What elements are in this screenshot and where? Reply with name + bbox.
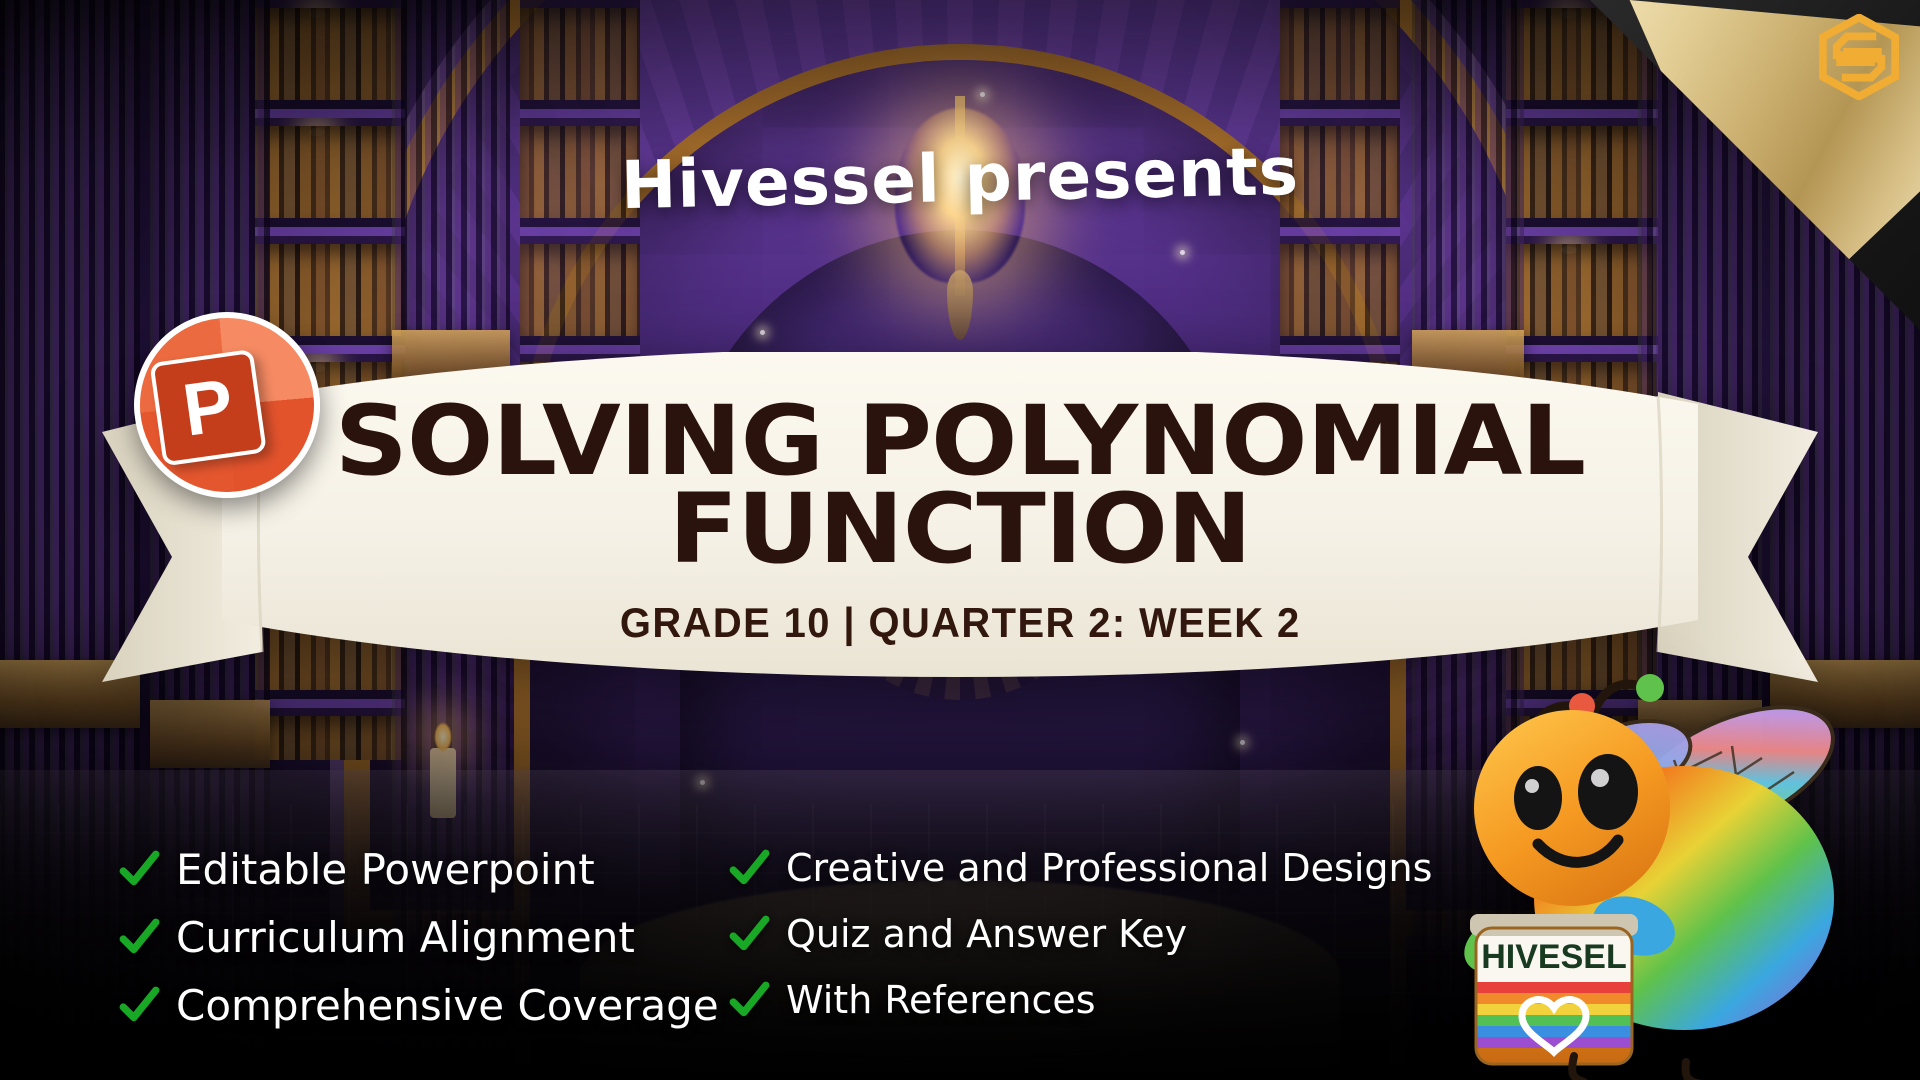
shelf-row <box>520 236 640 354</box>
list-item: Curriculum Alignment <box>118 916 678 960</box>
bee-eye-left <box>1514 766 1562 830</box>
powerpoint-tile: P <box>149 349 266 466</box>
rainbow-bee-mascot: HIVESEL <box>1422 626 1902 1080</box>
jar-lid <box>1470 914 1638 936</box>
antenna-tip-right <box>1636 674 1664 702</box>
shelf-row <box>255 0 405 118</box>
check-icon <box>118 849 160 891</box>
check-icon <box>728 848 770 890</box>
feature-list: Editable Powerpoint Curriculum Alignment… <box>118 848 1378 1028</box>
sparkle <box>760 330 765 335</box>
shelf-row <box>255 118 405 236</box>
feature-label: Editable Powerpoint <box>176 848 595 892</box>
feature-column-right: Creative and Professional Designs Quiz a… <box>728 848 1378 1022</box>
candle <box>430 748 456 818</box>
sparkle <box>700 780 705 785</box>
hivessel-hex-logo-icon[interactable] <box>1816 14 1902 100</box>
list-item: Quiz and Answer Key <box>728 914 1378 956</box>
feature-label: Curriculum Alignment <box>176 916 635 960</box>
shelf-row <box>1280 236 1400 354</box>
sparkle <box>980 92 985 97</box>
jar-label-text: HIVESEL <box>1481 938 1626 976</box>
check-icon <box>728 914 770 956</box>
feature-label: Comprehensive Coverage <box>176 984 719 1028</box>
bee-eye-right <box>1578 754 1638 830</box>
presents-headline: Hivessel presents <box>620 133 1299 224</box>
feature-column-left: Editable Powerpoint Curriculum Alignment… <box>118 848 678 1028</box>
feature-label: With References <box>786 981 1096 1021</box>
sparkle <box>1180 250 1185 255</box>
list-item: Comprehensive Coverage <box>118 984 678 1028</box>
sparkle <box>1240 740 1245 745</box>
powerpoint-letter: P <box>179 368 238 448</box>
check-icon <box>118 985 160 1027</box>
shelf-row <box>255 708 405 760</box>
list-item: With References <box>728 980 1378 1022</box>
shelf-row <box>520 0 640 118</box>
shelf-row <box>1280 0 1400 118</box>
feature-label: Creative and Professional Designs <box>786 849 1432 889</box>
list-item: Editable Powerpoint <box>118 848 678 892</box>
honey-jar: HIVESEL <box>1470 914 1638 1064</box>
check-icon <box>728 980 770 1022</box>
slide-canvas: Hivessel presents <box>0 0 1920 1080</box>
bee-head <box>1474 710 1670 906</box>
list-item: Creative and Professional Designs <box>728 848 1378 890</box>
feature-label: Quiz and Answer Key <box>786 915 1187 955</box>
check-icon <box>118 917 160 959</box>
